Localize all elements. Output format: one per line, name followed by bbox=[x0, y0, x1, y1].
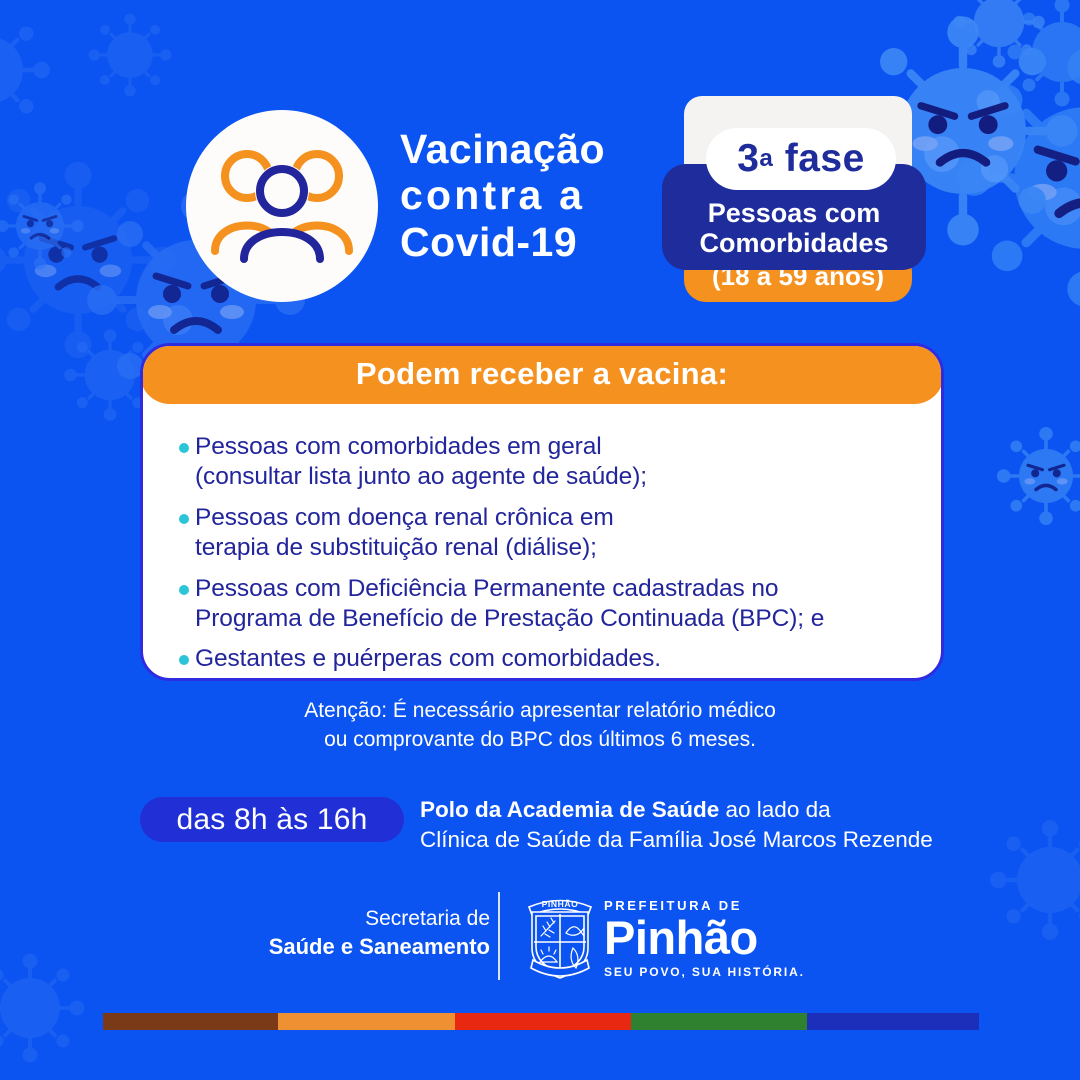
title-line-1: Vacinação bbox=[400, 126, 660, 172]
attention-note: Atenção: É necessário apresentar relatór… bbox=[0, 696, 1080, 755]
attention-note-line-1: Atenção: É necessário apresentar relatór… bbox=[0, 696, 1080, 725]
footer-divider bbox=[498, 892, 500, 980]
list-item: Gestantes e puérperas com comorbidades. bbox=[179, 644, 919, 674]
opening-hours-text: das 8h às 16h bbox=[176, 803, 367, 837]
secretaria-line-1: Secretaria de bbox=[250, 906, 490, 933]
list-item-line-1: Gestantes e puérperas com comorbidades. bbox=[195, 644, 919, 674]
list-item-line-2: terapia de substituição renal (diálise); bbox=[195, 533, 919, 563]
phase-word: fase bbox=[785, 137, 865, 181]
bottom-color-bar bbox=[103, 1013, 979, 1030]
list-item: Pessoas com comorbidades em geral (consu… bbox=[179, 432, 919, 493]
list-item-line-2: (consultar lista junto ao agente de saúd… bbox=[195, 462, 919, 492]
title-line-3: Covid-19 bbox=[400, 219, 660, 265]
location-venue: Polo da Academia de Saúde bbox=[420, 797, 719, 822]
location-line-2: Clínica de Saúde da Família José Marcos … bbox=[420, 825, 960, 855]
poster-footer: Secretaria de Saúde e Saneamento bbox=[0, 890, 1080, 990]
phase-badge-stack: Pessoas com Comorbidades 3a fase (18 a 5… bbox=[662, 96, 926, 302]
list-item-line-2: Programa de Benefício de Prestação Conti… bbox=[195, 604, 919, 634]
list-item-line-1: Pessoas com comorbidades em geral bbox=[195, 432, 919, 462]
attention-note-line-2: ou comprovante do BPC dos últimos 6 mese… bbox=[0, 725, 1080, 754]
poster-canvas: Vacinação contra a Covid-19 Pessoas com … bbox=[0, 0, 1080, 1080]
list-item-line-1: Pessoas com Deficiência Permanente cadas… bbox=[195, 574, 919, 604]
color-bar-segment-brown bbox=[103, 1013, 278, 1030]
eligibility-list: Pessoas com comorbidades em geral (consu… bbox=[179, 432, 919, 681]
eligibility-card: Podem receber a vacina: Pessoas com como… bbox=[140, 343, 944, 681]
schedule-row: das 8h às 16h Polo da Academia de Saúde … bbox=[140, 797, 960, 855]
location-suffix: ao lado da bbox=[719, 797, 830, 822]
color-bar-segment-orange bbox=[278, 1013, 455, 1030]
prefeitura-logo: PREFEITURA DE Pinhão SEU POVO, SUA HISTÓ… bbox=[604, 898, 805, 979]
secretaria-line-2: Saúde e Saneamento bbox=[250, 933, 490, 961]
three-people-icon bbox=[207, 147, 357, 265]
prefeitura-name: Pinhão bbox=[604, 914, 805, 961]
phase-number: 3 bbox=[737, 137, 759, 181]
phase-group-line-1: Pessoas com bbox=[708, 198, 881, 228]
color-bar-segment-green bbox=[631, 1013, 807, 1030]
eligibility-card-title: Podem receber a vacina: bbox=[356, 356, 728, 392]
list-item-line-1: Pessoas com doença renal crônica em bbox=[195, 503, 919, 533]
opening-hours-badge: das 8h às 16h bbox=[140, 797, 404, 842]
poster-header: Vacinação contra a Covid-19 Pessoas com … bbox=[0, 96, 1080, 316]
prefeitura-tagline: SEU POVO, SUA HISTÓRIA. bbox=[604, 965, 805, 979]
phase-group-line-2: Comorbidades bbox=[699, 228, 888, 258]
vaccination-logo-circle bbox=[186, 110, 378, 302]
poster-title: Vacinação contra a Covid-19 bbox=[400, 126, 660, 265]
phase-number-pill: 3a fase bbox=[706, 128, 896, 190]
location-line-1: Polo da Academia de Saúde ao lado da bbox=[420, 795, 960, 825]
title-line-2: contra a bbox=[400, 172, 660, 218]
location-info: Polo da Academia de Saúde ao lado da Clí… bbox=[420, 795, 960, 854]
pinhao-coat-of-arms-icon: PINHÃO bbox=[519, 890, 601, 982]
brasao-banner-text: PINHÃO bbox=[542, 899, 579, 909]
eligibility-card-header: Podem receber a vacina: bbox=[140, 343, 944, 404]
secretaria-logo: Secretaria de Saúde e Saneamento bbox=[250, 906, 490, 961]
list-item: Pessoas com Deficiência Permanente cadas… bbox=[179, 574, 919, 635]
list-item: Pessoas com doença renal crônica em tera… bbox=[179, 503, 919, 564]
color-bar-segment-red bbox=[455, 1013, 631, 1030]
color-bar-segment-blue bbox=[807, 1013, 979, 1030]
